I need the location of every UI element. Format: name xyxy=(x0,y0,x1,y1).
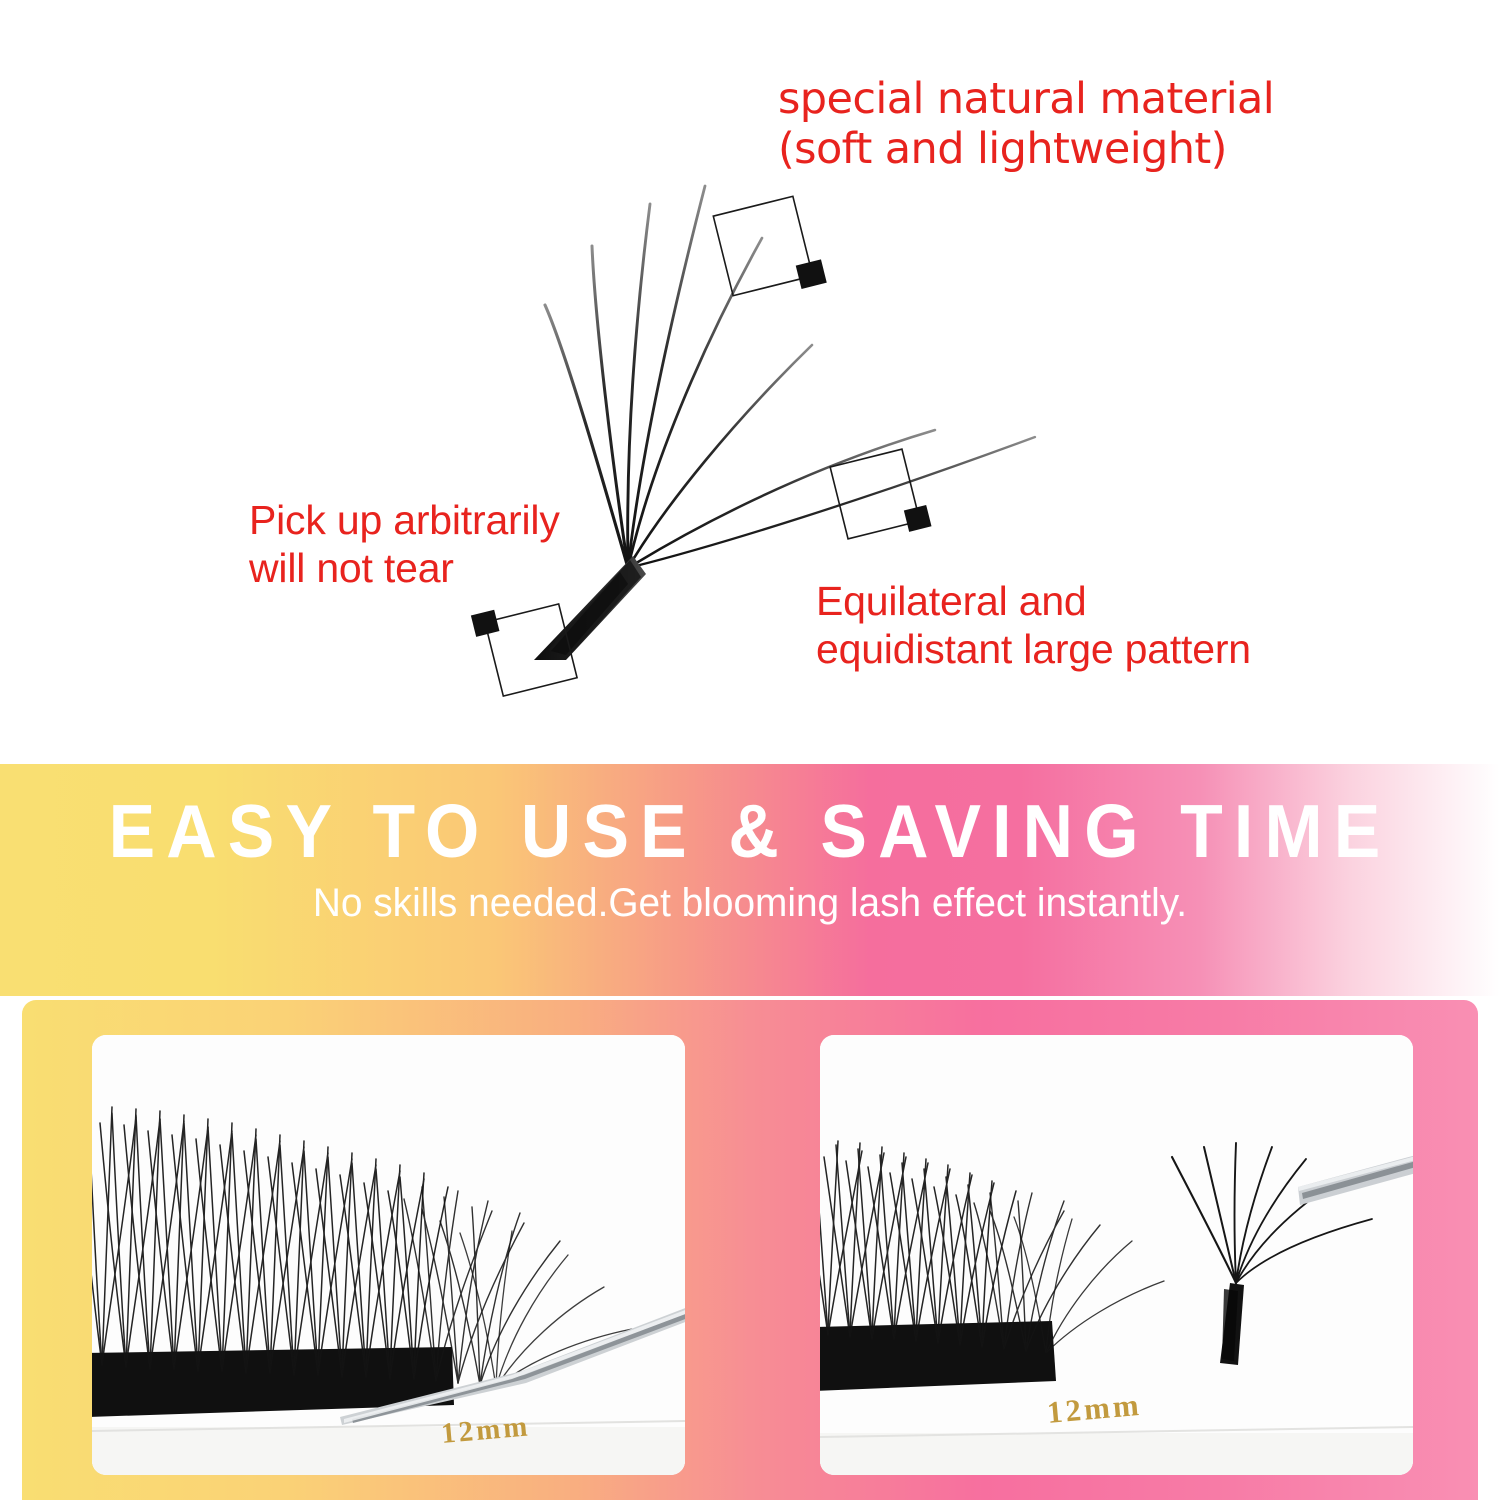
callout-marker-1 xyxy=(713,193,826,305)
product-infographic: special natural material (soft and light… xyxy=(0,0,1500,1500)
lash-tray-photo: 12mm xyxy=(92,1035,685,1475)
lash-fibers xyxy=(545,186,1035,568)
callout-special-natural-material: special natural material (soft and light… xyxy=(778,74,1274,175)
headline-banner: EASY TO USE & SAVING TIME No skills need… xyxy=(0,764,1500,996)
banner-title: EASY TO USE & SAVING TIME xyxy=(53,788,1448,874)
banner-subtitle: No skills needed.Get blooming lash effec… xyxy=(23,881,1478,926)
fan-pickup-photo: 12mm xyxy=(820,1035,1413,1475)
gallery-card-fan-pickup[interactable]: 12mm xyxy=(820,1035,1413,1475)
hero-diagram-section: special natural material (soft and light… xyxy=(0,0,1500,764)
gallery-card-lash-tray[interactable]: 12mm 12mm xyxy=(92,1035,685,1475)
callout-pick-up-arbitrarily: Pick up arbitrarily will not tear xyxy=(249,497,560,593)
callout-equilateral-equidistant: Equilateral and equidistant large patter… xyxy=(816,578,1251,674)
lash-fan-illustration xyxy=(0,0,1500,764)
photo-gallery-frame: 12mm 12mm xyxy=(22,1000,1478,1500)
